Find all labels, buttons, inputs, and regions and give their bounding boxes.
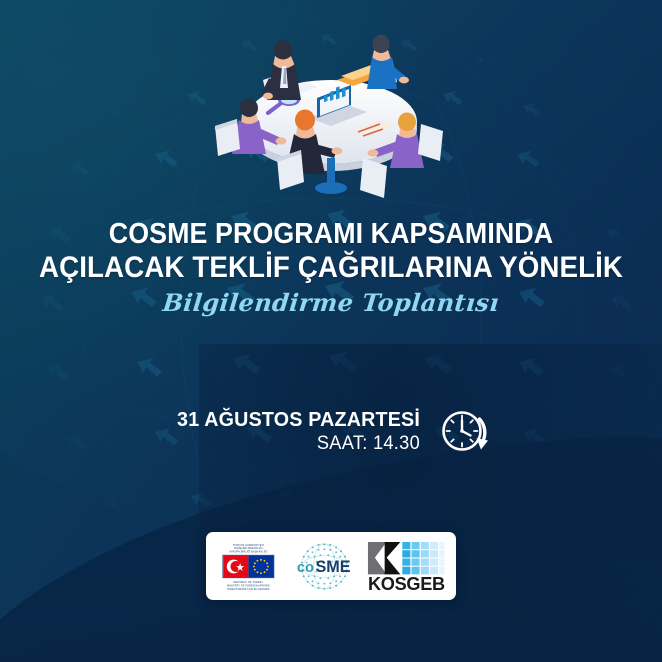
kosgeb-wordmark: KOSGEB — [368, 574, 445, 594]
poster-canvas: COSME PROGRAMI KAPSAMINDA AÇILACAK TEKLİ… — [0, 0, 662, 662]
ministry-top-line-1: TÜRKİYE CUMHURİYETİ — [233, 541, 264, 546]
event-datetime: 31 AĞUSTOS PAZARTESİ SAAT: 14.30 — [0, 405, 662, 457]
turkey-eu-ministry-logo: TÜRKİYE CUMHURİYETİ DIŞİŞLERİ BAKANLIĞI … — [214, 538, 283, 594]
clock-arrow-icon — [438, 405, 490, 457]
meeting-table-illustration — [205, 18, 457, 200]
background-corner-shade — [199, 344, 662, 662]
event-datetime-text: 31 AĞUSTOS PAZARTESİ SAAT: 14.30 — [172, 408, 425, 455]
headline-line-1: COSME PROGRAMI KAPSAMINDA — [109, 218, 553, 250]
cosme-text-co: co — [297, 559, 314, 575]
logo-bar: TÜRKİYE CUMHURİYETİ DIŞİŞLERİ BAKANLIĞI … — [206, 532, 456, 600]
event-date: 31 AĞUSTOS PAZARTESİ — [178, 408, 421, 432]
page-subtitle: Bilgilendirme Toplantısı — [0, 288, 662, 317]
kosgeb-logo: KOSGEB — [365, 538, 448, 594]
event-time: SAAT: 14.30 — [178, 433, 421, 455]
headline-line-2: AÇILACAK TEKLİF ÇAĞRILARINA YÖNELİK — [20, 251, 642, 286]
cosme-logo: co SME — [289, 537, 360, 595]
ministry-bottom-line-3: DIRECTORATE FOR EU AFFAIRS — [227, 586, 269, 590]
page-title: COSME PROGRAMI KAPSAMINDA AÇILACAK TEKLİ… — [20, 218, 642, 286]
cosme-text-sme: SME — [315, 557, 350, 575]
